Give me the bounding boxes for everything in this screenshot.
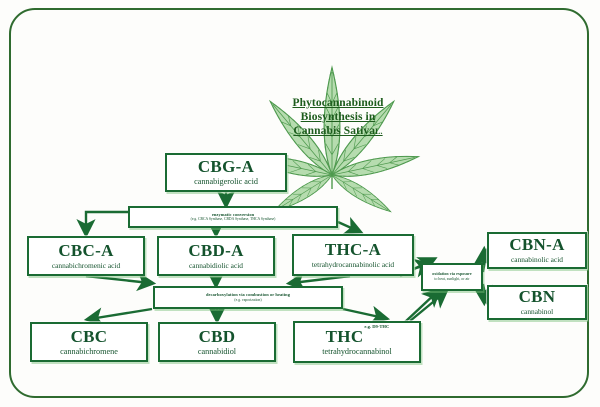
node-cbca-abbr: CBC-A: [58, 242, 113, 260]
node-cbga-abbr: CBG-A: [198, 158, 254, 176]
node-cbd-name: cannabidiol: [198, 347, 236, 357]
page-title: Phytocannabinoid Biosynthesis in Cannabi…: [268, 96, 408, 139]
node-cbd-abbr: CBD: [199, 328, 236, 346]
node-thca[interactable]: THC-A tetrahydrocannabinolic acid: [292, 234, 414, 276]
diagram-canvas: Phytocannabinoid Biosynthesis in Cannabi…: [0, 0, 600, 407]
title-line-3: Cannabis SativaL.: [268, 124, 408, 139]
process-oxidation-line2: to heat, sunlight, or air: [434, 277, 469, 282]
node-cbd[interactable]: CBD cannabidiol: [158, 322, 276, 362]
node-cbn-abbr: CBN: [519, 288, 556, 306]
node-thca-abbr: THC-A: [325, 241, 381, 259]
node-cbga[interactable]: CBG-A cannabigerolic acid: [165, 153, 287, 192]
node-thca-name: tetrahydrocannabinolic acid: [312, 260, 394, 270]
node-thc-superscript: e.g. D9-THC: [364, 324, 389, 329]
node-cbna[interactable]: CBN-A cannabinolic acid: [487, 232, 587, 269]
node-cbda-name: cannabidiolic acid: [189, 261, 243, 271]
node-cbda[interactable]: CBD-A cannabidiolic acid: [157, 236, 275, 276]
process-decarboxylation[interactable]: decarboxylation via combustion or heatin…: [153, 286, 343, 309]
node-cbc-name: cannabichromene: [60, 347, 118, 357]
title-authority: L.: [375, 127, 383, 136]
node-cbca[interactable]: CBC-A cannabichromenic acid: [27, 236, 145, 276]
process-enzymatic-conversion[interactable]: enzymatic conversion (e.g. CBCA Synthase…: [128, 206, 338, 228]
node-cbga-name: cannabigerolic acid: [194, 177, 258, 187]
node-cbda-abbr: CBD-A: [188, 242, 243, 260]
node-thc[interactable]: THCe.g. D9-THC tetrahydrocannabinol: [293, 321, 421, 363]
node-cbc-abbr: CBC: [71, 328, 108, 346]
node-cbna-name: cannabinolic acid: [511, 255, 563, 265]
process-enzymatic-line2: (e.g. CBCA Synthase, CBDA Synthase, THCA…: [191, 217, 276, 222]
process-oxidation[interactable]: oxidation via exposure to heat, sunlight…: [421, 263, 483, 291]
node-cbn-name: cannabinol: [521, 307, 553, 317]
node-cbna-abbr: CBN-A: [509, 236, 564, 254]
node-thc-label: THC: [326, 327, 364, 346]
node-cbca-name: cannabichromenic acid: [52, 261, 120, 271]
title-line-1: Phytocannabinoid: [268, 96, 408, 110]
process-decarboxylation-line2: (e.g. vaporization): [234, 298, 261, 303]
title-line-2: Biosynthesis in: [268, 110, 408, 124]
node-cbn[interactable]: CBN cannabinol: [487, 285, 587, 320]
node-cbc[interactable]: CBC cannabichromene: [30, 322, 148, 362]
node-thc-name: tetrahydrocannabinol: [322, 347, 392, 357]
title-species: Cannabis Sativa: [293, 125, 375, 137]
node-thc-abbr: THCe.g. D9-THC: [326, 328, 389, 346]
